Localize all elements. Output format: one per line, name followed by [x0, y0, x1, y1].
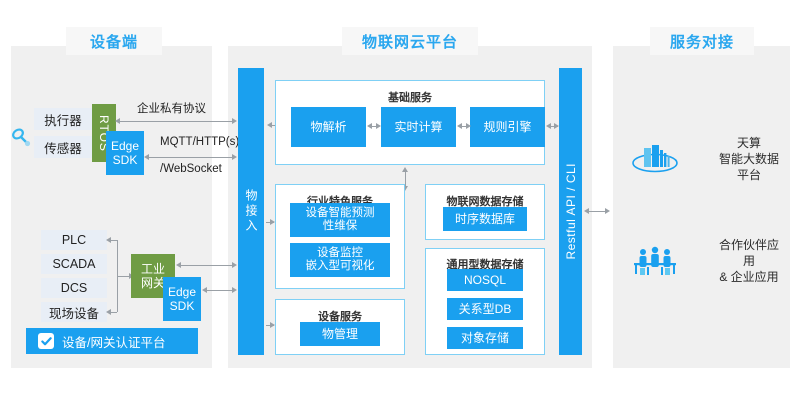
base-service-item-parsing[interactable]: 物解析 [291, 107, 366, 147]
arrowhead-right [605, 208, 610, 214]
item-label-line2: 嵌入型可视化 [306, 260, 375, 273]
connector-label-private-protocol: 企业私有协议 [137, 100, 206, 116]
item-label: 时序数据库 [455, 212, 515, 226]
connector-line-private-protocol [117, 121, 235, 122]
device-item-label: 传感器 [44, 138, 82, 157]
edge-sdk-label-top: Edge [168, 285, 196, 299]
industrial-item-label: DCS [61, 281, 87, 295]
general-storage-item-object-storage[interactable]: 对象存储 [447, 327, 523, 349]
connector-label-mqtt: MQTT/HTTP(s) [160, 136, 239, 148]
iot-storage-item-tsdb[interactable]: 时序数据库 [443, 207, 527, 231]
item-label: 关系型DB [459, 302, 512, 316]
arrowhead-left [457, 123, 462, 129]
panel-title-iot-cloud-platform: 物联网云平台 [342, 27, 478, 55]
device-item-actuator[interactable]: 执行器 [34, 108, 92, 130]
service-row-label: 天算 智能大数据平台 [718, 135, 780, 183]
connector-line-mqtt [146, 157, 235, 158]
item-label: 物管理 [322, 327, 358, 341]
item-label-line1: 设备智能预测 [306, 207, 375, 220]
industry-service-item-predictive-maintenance[interactable]: 设备智能预测 性维保 [290, 203, 390, 237]
device-item-sensor[interactable]: 传感器 [34, 136, 92, 158]
general-storage-item-nosql[interactable]: NOSQL [447, 269, 523, 291]
base-service-item-rule-engine[interactable]: 规则引擎 [470, 107, 545, 147]
arrowhead-right [270, 219, 275, 225]
industrial-item-dcs[interactable]: DCS [41, 278, 107, 298]
industrial-item-plc[interactable]: PLC [41, 230, 107, 250]
check-icon [38, 333, 54, 349]
service-row-label: 合作伙伴应用 & 企业应用 [718, 237, 780, 285]
panel-service-integration [613, 46, 790, 368]
restful-api-cli-label: Restful API / CLI [564, 163, 578, 260]
auth-platform-label: 设备/网关认证平台 [62, 332, 165, 351]
edge-sdk-label-bottom: SDK [170, 299, 195, 313]
arrowhead-right [232, 154, 237, 160]
panel-title-service-integration: 服务对接 [650, 27, 754, 55]
service-row-line2: 智能大数据平台 [719, 152, 779, 182]
arrowhead-right [466, 123, 471, 129]
item-label: NOSQL [464, 273, 506, 287]
device-item-label: 执行器 [44, 110, 82, 129]
item-label: 物解析 [310, 120, 346, 134]
panel-title-device-side: 设备端 [66, 27, 162, 55]
bigdata-cube-icon [630, 141, 680, 177]
service-row-line1: 天算 [737, 136, 761, 150]
item-label: 实时计算 [394, 120, 442, 134]
service-row-line1: 合作伙伴应用 [719, 238, 779, 268]
industry-service-item-monitoring-visualization[interactable]: 设备监控 嵌入型可视化 [290, 243, 390, 277]
gateway-label-top: 工业 [141, 262, 165, 276]
connector-line-gateway-upper [178, 265, 235, 266]
arrowhead-left [546, 123, 551, 129]
arrowhead-left [367, 123, 372, 129]
device-access-bar[interactable]: 物接入 [238, 68, 264, 355]
arrowhead-right [376, 123, 381, 129]
industrial-item-label: 现场设备 [49, 303, 99, 322]
arrowhead-right [232, 118, 237, 124]
arrowhead-left [267, 122, 272, 128]
item-label-line1: 设备监控 [317, 247, 363, 260]
edge-sdk-label-bottom: SDK [113, 153, 138, 167]
connector-label-websocket: /WebSocket [160, 163, 222, 175]
architecture-diagram: 设备端 物联网云平台 服务对接 执行器 传感器 RTOS Edge SDK 企业… [0, 0, 802, 411]
service-row-bigdata[interactable]: 天算 智能大数据平台 [630, 138, 780, 180]
device-access-label: 物接入 [243, 189, 259, 234]
arrowhead-left [115, 118, 120, 124]
service-row-partners[interactable]: 合作伙伴应用 & 企业应用 [630, 240, 780, 282]
industrial-item-field-device[interactable]: 现场设备 [41, 302, 107, 322]
industrial-item-scada[interactable]: SCADA [41, 254, 107, 274]
arrowhead-left [176, 262, 181, 268]
industrial-item-label: PLC [62, 233, 86, 247]
arrowhead-right [232, 262, 237, 268]
edge-sdk-box-gateway[interactable]: Edge SDK [163, 277, 201, 321]
arrowhead-right [270, 322, 275, 328]
arrowhead-left [106, 237, 111, 243]
service-row-line2: & 企业应用 [719, 270, 778, 284]
arrowhead-left [106, 309, 111, 315]
restful-api-cli-bar[interactable]: Restful API / CLI [559, 68, 582, 355]
arrowhead-left [202, 287, 207, 293]
industrial-item-label: SCADA [52, 257, 95, 271]
arrowhead-right [232, 287, 237, 293]
arrowhead-left [584, 208, 589, 214]
item-label: 规则引擎 [483, 120, 531, 134]
base-service-title: 基础服务 [276, 89, 544, 105]
item-label: 对象存储 [461, 331, 509, 345]
chip-icon [10, 126, 32, 148]
item-label-line2: 性维保 [323, 220, 358, 233]
gateway-label-bottom: 网关 [141, 276, 165, 290]
base-service-item-realtime-compute[interactable]: 实时计算 [381, 107, 456, 147]
device-gateway-auth-platform-bar[interactable]: 设备/网关认证平台 [26, 328, 198, 354]
arrowhead-left [144, 154, 149, 160]
general-storage-item-relational-db[interactable]: 关系型DB [447, 298, 523, 320]
edge-sdk-label-top: Edge [111, 139, 139, 153]
arrowhead-up [402, 167, 408, 172]
edge-sdk-box-device[interactable]: Edge SDK [106, 131, 144, 175]
connector-line-gateway-lower [204, 290, 235, 291]
partners-meeting-icon [630, 243, 680, 279]
arrowhead-right [554, 123, 559, 129]
device-service-item-thing-management[interactable]: 物管理 [300, 322, 380, 346]
